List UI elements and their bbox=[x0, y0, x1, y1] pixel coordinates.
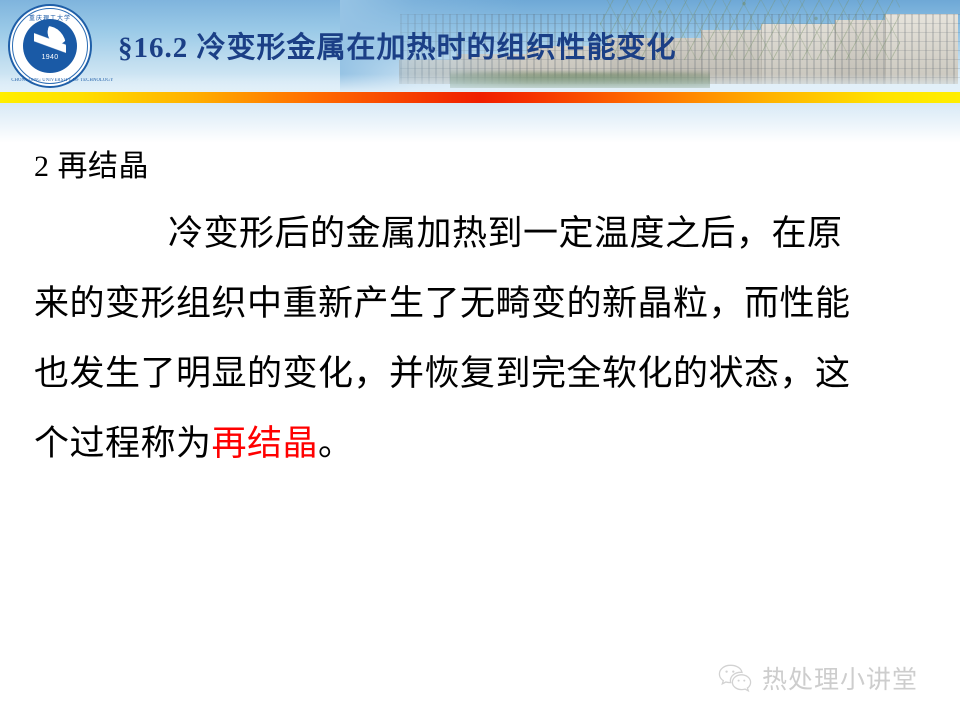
presentation-slide: 重庆理工大学 1940 CHONGQING UNIVERSITY OF TECH… bbox=[0, 0, 960, 720]
watermark-text: 热处理小讲堂 bbox=[762, 660, 918, 696]
slide-content: 2 再结晶 冷变形后的金属加热到一定温度之后，在原 来的变形组织中重新产生了无畸… bbox=[0, 103, 960, 720]
paragraph-line: 也发生了明显的变化，并恢复到完全软化的状态，这 bbox=[34, 339, 924, 409]
final-line-prefix: 个过程称为 bbox=[34, 424, 212, 463]
university-logo: 重庆理工大学 1940 CHONGQING UNIVERSITY OF TECH… bbox=[8, 4, 92, 88]
paragraph-line-final: 个过程称为再结晶。 bbox=[34, 409, 924, 479]
slide-header-banner: 重庆理工大学 1940 CHONGQING UNIVERSITY OF TECH… bbox=[0, 0, 960, 92]
logo-name-en: CHONGQING UNIVERSITY OF TECHNOLOGY bbox=[11, 78, 88, 83]
paragraph-line: 来的变形组织中重新产生了无畸变的新晶粒，而性能 bbox=[34, 269, 924, 339]
final-line-suffix: 。 bbox=[318, 424, 354, 463]
wechat-icon bbox=[718, 663, 752, 693]
emphasis-term: 再结晶 bbox=[212, 424, 319, 463]
header-accent-bar bbox=[0, 92, 960, 103]
section-heading: 2 再结晶 bbox=[34, 141, 149, 185]
paragraph-line: 冷变形后的金属加热到一定温度之后，在原 bbox=[34, 199, 924, 269]
slide-title: §16.2 冷变形金属在加热时的组织性能变化 bbox=[118, 34, 948, 63]
body-paragraph: 冷变形后的金属加热到一定温度之后，在原 来的变形组织中重新产生了无畸变的新晶粒，… bbox=[34, 199, 924, 479]
logo-founding-year: 1940 bbox=[8, 54, 92, 61]
watermark: 热处理小讲堂 bbox=[718, 660, 918, 696]
header-bottom-haze bbox=[0, 74, 960, 92]
